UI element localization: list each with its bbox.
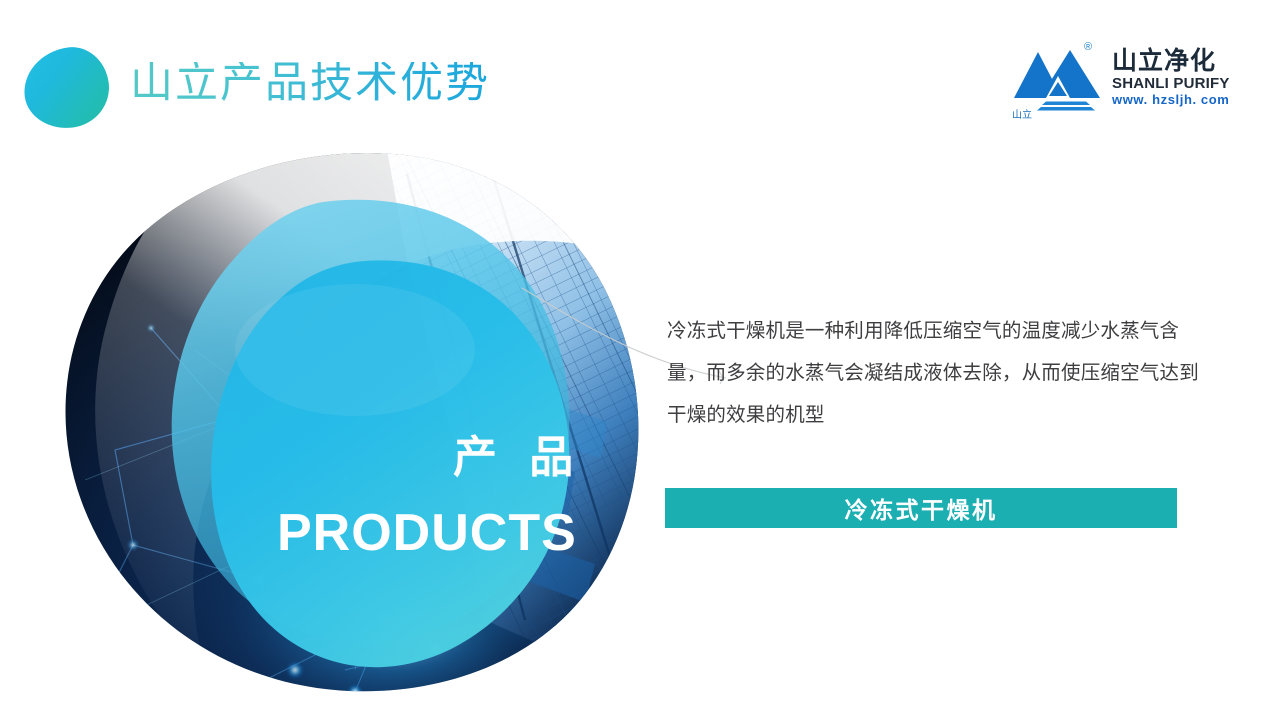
hero-heading-en: PRODUCTS xyxy=(277,504,577,562)
mountain-peaks-logo-icon xyxy=(1012,44,1104,112)
product-name-banner-label: 冷冻式干燥机 xyxy=(845,491,998,525)
logo-website-url: www. hzsljh. com xyxy=(1112,92,1244,108)
page-title: 山立产品技术优势 xyxy=(130,62,490,105)
decorative-blob-icon xyxy=(19,42,114,133)
product-description: 冷冻式干燥机是一种利用降低压缩空气的温度减少水蒸气含量，而多余的水蒸气会凝结成液… xyxy=(667,310,1199,436)
hero-blob-body xyxy=(55,150,655,695)
product-name-banner[interactable]: 冷冻式干燥机 xyxy=(665,488,1177,528)
logo-mark-label: 山立 xyxy=(1012,106,1032,121)
logo-text-block: 山立净化 SHANLI PURIFY www. hzsljh. com xyxy=(1112,48,1244,108)
logo-company-name-en: SHANLI PURIFY xyxy=(1112,75,1244,93)
hero-heading-cn: 产 品 xyxy=(453,433,583,482)
logo-company-name-cn: 山立净化 xyxy=(1112,48,1244,75)
products-hero-graphic: 产 品 PRODUCTS xyxy=(55,150,655,695)
company-logo: ® 山立 山立净化 SHANLI PURIFY www. hzsljh. com xyxy=(1012,42,1242,120)
slide-canvas: 山立产品技术优势 ® 山立 山立净化 SHANLI PURIFY www. hz… xyxy=(0,0,1280,720)
registered-trademark-icon: ® xyxy=(1084,42,1092,53)
